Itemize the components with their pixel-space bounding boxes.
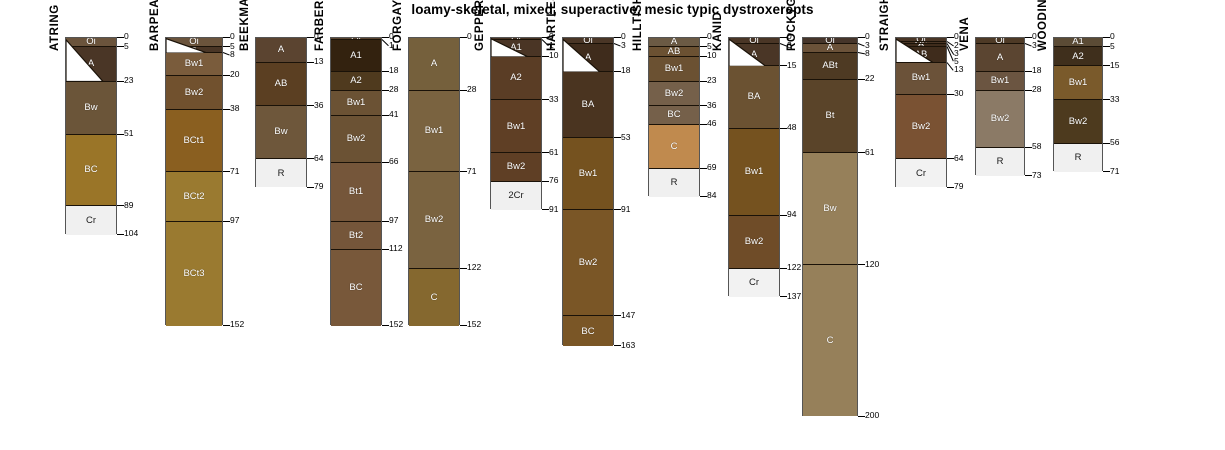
depth-tick-leader <box>117 37 124 38</box>
horizon-bw1[interactable]: Bw1 <box>491 100 541 153</box>
horizon-bw1[interactable]: Bw1 <box>563 138 613 210</box>
depth-tick-leader <box>1025 175 1032 176</box>
profile-name-label: BARPEAK <box>149 0 161 51</box>
depth-tick-label: 28 <box>1032 85 1041 94</box>
depth-tick-label: 120 <box>865 260 879 269</box>
profile-column[interactable]: OiOeAABBw1Bw2Cr <box>895 37 947 187</box>
depth-tick-label: 30 <box>954 89 963 98</box>
depth-tick-label: 61 <box>865 148 874 157</box>
horizon-label: R <box>278 169 285 179</box>
horizon-bw[interactable]: Bw <box>256 106 306 159</box>
depth-tick-leader <box>382 221 389 222</box>
depth-tick-leader <box>382 71 389 72</box>
horizon-label: Bw2 <box>745 237 763 247</box>
horizon-abt[interactable]: ABt <box>803 53 857 79</box>
depth-tick-label: 91 <box>549 205 558 214</box>
depth-tick-leader <box>117 46 124 47</box>
depth-tick-label: 71 <box>1110 167 1119 176</box>
horizon-label: Bw2 <box>579 258 597 268</box>
horizon-label: R <box>1075 153 1082 163</box>
horizon-label: Cr <box>86 216 96 226</box>
depth-tick-label: 89 <box>124 201 133 210</box>
horizon-a[interactable]: A <box>803 44 857 53</box>
depth-tick-label: 46 <box>707 119 716 128</box>
horizon-label: Bw2 <box>991 114 1009 124</box>
organic-wedge-overlay <box>491 38 541 57</box>
depth-tick-label: 64 <box>314 154 323 163</box>
horizon-bw2[interactable]: Bw2 <box>896 95 946 159</box>
profile-name-label: STRAIGHT <box>879 0 891 51</box>
depth-tick-leader <box>1103 37 1110 38</box>
horizon-label: Bw1 <box>425 126 443 136</box>
horizon-r[interactable]: R <box>1054 144 1102 172</box>
horizon-bw1[interactable]: Bw1 <box>331 91 381 116</box>
depth-tick-label: 64 <box>954 154 963 163</box>
horizon-bw2[interactable]: Bw2 <box>649 82 699 107</box>
profile-name-label: GEPPERT <box>474 0 486 51</box>
horizon-ab[interactable]: AB <box>256 63 306 107</box>
depth-tick-leader <box>382 249 389 250</box>
horizon-label: BCt3 <box>183 269 204 279</box>
depth-tick-leader <box>700 196 707 197</box>
depth-tick-label: 18 <box>1032 66 1041 75</box>
depth-tick-leader <box>947 62 954 71</box>
depth-tick-label: 79 <box>954 182 963 191</box>
depth-tick-label: 18 <box>389 66 398 75</box>
depth-tick-leader <box>780 296 787 297</box>
horizon-label: R <box>671 178 678 188</box>
depth-tick-leader <box>117 234 124 235</box>
horizon-a2[interactable]: A2 <box>1054 47 1102 66</box>
horizon-bw1[interactable]: Bw1 <box>409 91 459 172</box>
horizon-bw1[interactable]: Bw1 <box>1054 66 1102 100</box>
depth-tick-leader <box>858 37 865 38</box>
horizon-ab[interactable]: AB <box>649 47 699 56</box>
profile-name-label: ROCKYGLEN <box>786 0 798 51</box>
horizon-label: AB <box>668 47 681 56</box>
depth-tick-label: 91 <box>621 205 630 214</box>
depth-tick-label: 58 <box>1032 142 1041 151</box>
horizon-bw2[interactable]: Bw2 <box>1054 100 1102 144</box>
horizon-a[interactable]: A <box>649 38 699 47</box>
depth-tick-label: 97 <box>389 216 398 225</box>
depth-tick-label: 84 <box>707 191 716 200</box>
depth-tick-label: 38 <box>230 104 239 113</box>
depth-tick-label: 23 <box>124 76 133 85</box>
horizon-a2[interactable]: A2 <box>331 72 381 91</box>
depth-tick-leader <box>542 181 549 182</box>
profile-column[interactable]: OiABABw1Bw2BC <box>562 37 614 345</box>
depth-tick-leader <box>1025 71 1032 72</box>
horizon-label: A1 <box>1072 38 1084 47</box>
horizon-bw2[interactable]: Bw2 <box>491 153 541 181</box>
horizon-label: Bw <box>823 204 836 214</box>
depth-tick-leader <box>460 37 467 38</box>
depth-tick-label: 15 <box>1110 61 1119 70</box>
horizon-bct3[interactable]: BCt3 <box>166 222 222 326</box>
horizon-label: A <box>431 59 437 69</box>
horizon-label: R <box>997 157 1004 167</box>
horizon-label: A1 <box>350 51 362 61</box>
organic-wedge-overlay <box>563 38 613 72</box>
horizon-bw2[interactable]: Bw2 <box>563 210 613 316</box>
horizon-a2[interactable]: A2 <box>491 57 541 101</box>
depth-tick-leader <box>780 128 787 129</box>
depth-tick-leader <box>614 345 621 346</box>
depth-tick-label: 22 <box>865 74 874 83</box>
horizon-r[interactable]: R <box>649 169 699 197</box>
depth-tick-label: 122 <box>467 263 481 272</box>
depth-tick-leader <box>382 37 389 38</box>
horizon-label: Bw1 <box>579 169 597 179</box>
depth-tick-label: 71 <box>467 167 476 176</box>
depth-tick-label: 10 <box>549 51 558 60</box>
horizon-bt1[interactable]: Bt1 <box>331 163 381 222</box>
horizon-bw1[interactable]: Bw1 <box>649 57 699 82</box>
depth-tick-leader <box>223 46 230 47</box>
horizon-bw1[interactable]: Bw1 <box>896 63 946 95</box>
horizon-label: A <box>997 53 1003 63</box>
horizon-2cr[interactable]: 2Cr <box>491 182 541 210</box>
horizon-label: Bw2 <box>347 134 365 144</box>
horizon-label: Bw1 <box>991 76 1009 86</box>
horizon-label: BC <box>349 283 362 293</box>
horizon-label: BC <box>667 110 680 120</box>
depth-tick-leader <box>542 56 549 57</box>
horizon-c[interactable]: C <box>409 269 459 326</box>
horizon-bw1[interactable]: Bw1 <box>166 53 222 76</box>
horizon-bc[interactable]: BC <box>649 106 699 125</box>
profile-name-label: WOODIN <box>1037 0 1049 51</box>
profile-name-label: ATRING <box>49 4 61 51</box>
depth-tick-leader <box>858 152 865 153</box>
depth-tick-leader <box>614 315 621 316</box>
profile-column[interactable]: A1A2Bw1Bw2R <box>1053 37 1103 171</box>
depth-tick-leader <box>460 325 467 326</box>
horizon-bw2[interactable]: Bw2 <box>166 76 222 110</box>
horizon-label: Bw2 <box>425 215 443 225</box>
depth-tick-label: 61 <box>549 148 558 157</box>
organic-wedge-overlay <box>166 38 222 53</box>
horizon-label: A <box>827 44 833 53</box>
horizon-bw[interactable]: Bw <box>66 82 116 135</box>
depth-tick-leader <box>700 168 707 169</box>
depth-tick-leader <box>780 268 787 269</box>
depth-tick-label: 56 <box>1110 138 1119 147</box>
depth-tick-label: 33 <box>1110 95 1119 104</box>
depth-tick-label: 152 <box>230 320 244 329</box>
horizon-a[interactable]: A <box>409 38 459 91</box>
depth-tick-label: 137 <box>787 292 801 301</box>
horizon-cr[interactable]: Cr <box>729 269 779 297</box>
profile-name-label: HARTLESS <box>546 0 558 51</box>
horizon-bc[interactable]: BC <box>563 316 613 346</box>
horizon-label: BCt1 <box>183 136 204 146</box>
depth-tick-label: 66 <box>389 157 398 166</box>
depth-tick-leader <box>382 162 389 163</box>
profile-column[interactable]: AABBw1Bw2BCCR <box>648 37 700 196</box>
horizon-bw2[interactable]: Bw2 <box>976 91 1024 148</box>
horizon-label: BC <box>581 327 594 337</box>
horizon-ba[interactable]: BA <box>729 66 779 128</box>
profile-name-label: VENA <box>959 17 971 51</box>
depth-tick-leader <box>1103 46 1110 47</box>
depth-tick-label: 94 <box>787 210 796 219</box>
depth-tick-label: 5 <box>1110 42 1115 51</box>
depth-tick-leader <box>700 56 707 57</box>
depth-tick-label: 13 <box>314 57 323 66</box>
depth-tick-leader <box>223 52 230 55</box>
depth-tick-leader <box>382 39 389 46</box>
depth-tick-label: 97 <box>230 216 239 225</box>
depth-tick-leader <box>858 79 865 80</box>
horizon-c[interactable]: C <box>803 265 857 416</box>
depth-tick-label: 0 <box>124 32 129 41</box>
horizon-label: Cr <box>749 278 759 288</box>
horizon-label: ABt <box>822 61 837 71</box>
depth-tick-leader <box>780 215 787 216</box>
depth-tick-leader <box>858 416 865 417</box>
depth-tick-leader <box>307 37 314 38</box>
horizon-a1[interactable]: A1 <box>331 40 381 72</box>
depth-tick-leader <box>223 325 230 326</box>
depth-tick-label: 79 <box>314 182 323 191</box>
horizon-label: C <box>827 336 834 346</box>
depth-tick-label: 69 <box>707 163 716 172</box>
horizon-label: BA <box>748 92 761 102</box>
depth-tick-leader <box>1025 43 1032 46</box>
horizon-a1[interactable]: A1 <box>1054 38 1102 47</box>
horizon-label: Bw <box>274 127 287 137</box>
horizon-bct1[interactable]: BCt1 <box>166 110 222 172</box>
horizon-label: Bw1 <box>347 98 365 108</box>
horizon-bw2[interactable]: Bw2 <box>409 172 459 269</box>
depth-tick-label: 28 <box>467 85 476 94</box>
depth-tick-leader <box>947 158 954 159</box>
depth-tick-label: 147 <box>621 311 635 320</box>
profile-column[interactable]: ABw1Bw2C <box>408 37 460 325</box>
depth-tick-label: 104 <box>124 229 138 238</box>
horizon-label: Bw1 <box>745 167 763 177</box>
depth-tick-leader <box>223 37 230 38</box>
depth-tick-leader <box>223 221 230 222</box>
profile-name-label: KANID <box>712 12 724 51</box>
profile-name-label: HILLTISH <box>632 0 644 51</box>
horizon-ba[interactable]: BA <box>563 72 613 138</box>
depth-tick-leader <box>117 81 124 82</box>
depth-tick-leader <box>1103 65 1110 66</box>
depth-tick-leader <box>460 268 467 269</box>
horizon-label: Bw2 <box>507 162 525 172</box>
depth-tick-label: 51 <box>124 129 133 138</box>
profile-column[interactable]: OiABABw1Bw2Cr <box>728 37 780 296</box>
horizon-label: BC <box>84 165 97 175</box>
horizon-label: Bt <box>826 111 835 121</box>
horizon-bw2[interactable]: Bw2 <box>729 216 779 269</box>
depth-tick-label: 200 <box>865 411 879 420</box>
depth-tick-leader <box>1025 147 1032 148</box>
horizon-c[interactable]: C <box>649 125 699 169</box>
depth-tick-label: 73 <box>1032 171 1041 180</box>
depth-tick-label: 23 <box>707 76 716 85</box>
depth-tick-label: 8 <box>230 50 235 59</box>
depth-tick-leader <box>307 158 314 159</box>
depth-tick-leader <box>382 115 389 116</box>
profile-column[interactable]: OiAABtBtBwC <box>802 37 858 416</box>
depth-tick-label: 152 <box>467 320 481 329</box>
horizon-label: Bw1 <box>912 73 930 83</box>
depth-tick-leader <box>117 205 124 206</box>
depth-tick-leader <box>614 209 621 210</box>
horizon-label: A <box>278 45 284 55</box>
depth-tick-label: 163 <box>621 341 635 350</box>
organic-wedge-overlay <box>729 38 779 66</box>
profile-column[interactable]: AABBwR <box>255 37 307 187</box>
horizon-label: BCt2 <box>183 192 204 202</box>
depth-tick-label: 20 <box>230 70 239 79</box>
horizon-label: Bw1 <box>185 59 203 69</box>
depth-tick-leader <box>223 109 230 110</box>
depth-tick-label: 152 <box>389 320 403 329</box>
depth-tick-label: 71 <box>230 167 239 176</box>
depth-tick-leader <box>1103 99 1110 100</box>
depth-tick-leader <box>1103 171 1110 172</box>
profile-column[interactable]: OiABw1Bw2BCt1BCt2BCt3 <box>165 37 223 325</box>
depth-tick-leader <box>858 43 865 46</box>
horizon-label: Bw2 <box>1069 117 1087 127</box>
depth-tick-leader <box>1025 90 1032 91</box>
profile-name-label: FARBER <box>314 0 326 51</box>
horizon-bc[interactable]: BC <box>66 135 116 207</box>
depth-tick-label: 3 <box>621 41 626 50</box>
horizon-bt[interactable]: Bt <box>803 80 857 154</box>
horizon-bw2[interactable]: Bw2 <box>331 116 381 163</box>
depth-tick-label: 10 <box>707 51 716 60</box>
depth-tick-leader <box>542 152 549 153</box>
depth-tick-label: 41 <box>389 110 398 119</box>
depth-tick-label: 0 <box>230 32 235 41</box>
depth-tick-leader <box>700 81 707 82</box>
depth-tick-leader <box>858 52 865 54</box>
horizon-label: Bw <box>84 103 97 113</box>
depth-tick-leader <box>1103 143 1110 144</box>
depth-tick-leader <box>700 105 707 106</box>
depth-tick-leader <box>614 71 621 72</box>
horizon-label: BA <box>582 100 595 110</box>
depth-tick-label: 0 <box>467 32 472 41</box>
depth-tick-leader <box>542 209 549 210</box>
horizon-label: C <box>431 293 438 303</box>
profile-column[interactable]: OiABw1Bw2R <box>975 37 1025 175</box>
horizon-label: Bt2 <box>349 231 363 241</box>
horizon-bt2[interactable]: Bt2 <box>331 222 381 250</box>
depth-tick-label: 18 <box>621 66 630 75</box>
depth-tick-leader <box>542 99 549 100</box>
depth-tick-label: 28 <box>389 85 398 94</box>
depth-tick-label: 53 <box>621 133 630 142</box>
horizon-bw1[interactable]: Bw1 <box>729 129 779 216</box>
horizon-label: Bw1 <box>1069 78 1087 88</box>
depth-tick-label: 0 <box>1110 32 1115 41</box>
depth-tick-leader <box>858 264 865 265</box>
horizon-a[interactable]: A <box>976 44 1024 72</box>
depth-tick-label: 5 <box>124 42 129 51</box>
horizon-r[interactable]: R <box>976 148 1024 176</box>
horizon-bc[interactable]: BC <box>331 250 381 326</box>
depth-tick-label: 48 <box>787 123 796 132</box>
depth-tick-label: 36 <box>314 101 323 110</box>
horizon-label: A2 <box>1072 52 1084 62</box>
depth-tick-leader <box>382 325 389 326</box>
horizon-label: Bw2 <box>185 88 203 98</box>
depth-tick-leader <box>382 90 389 91</box>
horizon-label: Bw1 <box>665 64 683 74</box>
depth-tick-label: 112 <box>389 244 403 253</box>
depth-tick-leader <box>307 62 314 63</box>
depth-tick-label: 8 <box>865 49 870 58</box>
depth-tick-leader <box>700 37 707 38</box>
depth-tick-label: 15 <box>787 61 796 70</box>
profile-column[interactable]: OiABwBCCr <box>65 37 117 234</box>
depth-tick-leader <box>614 37 621 38</box>
depth-tick-leader <box>614 137 621 138</box>
horizon-label: Bt1 <box>349 187 363 197</box>
depth-tick-leader <box>947 37 954 38</box>
depth-tick-leader <box>223 171 230 172</box>
organic-wedge-overlay <box>896 38 946 63</box>
organic-wedge-overlay <box>66 38 116 82</box>
depth-tick-leader <box>700 46 707 47</box>
horizon-r[interactable]: R <box>256 159 306 187</box>
depth-tick-leader <box>614 43 621 46</box>
depth-tick-leader <box>460 90 467 91</box>
depth-tick-leader <box>780 65 787 66</box>
horizon-label: A2 <box>350 76 362 86</box>
horizon-label: Cr <box>916 169 926 179</box>
depth-tick-leader <box>223 75 230 76</box>
depth-tick-label: 36 <box>707 101 716 110</box>
horizon-cr[interactable]: Cr <box>66 206 116 234</box>
horizon-label: A <box>671 38 677 47</box>
horizon-label: Bw2 <box>665 89 683 99</box>
depth-tick-leader <box>307 187 314 188</box>
depth-tick-label: 76 <box>549 176 558 185</box>
depth-tick-leader <box>947 94 954 95</box>
profile-column[interactable]: OiA1A2Bw1Bw2Bt1Bt2BC <box>330 37 382 325</box>
depth-tick-leader <box>117 134 124 135</box>
depth-tick-label: 13 <box>954 65 963 74</box>
horizon-label: AB <box>275 79 288 89</box>
horizon-bct2[interactable]: BCt2 <box>166 172 222 221</box>
depth-tick-leader <box>460 171 467 172</box>
horizon-label: A2 <box>510 73 522 83</box>
depth-tick-leader <box>1025 37 1032 38</box>
horizon-a[interactable]: A <box>256 38 306 63</box>
profile-column[interactable]: OiA1A2Bw1Bw22Cr <box>490 37 542 209</box>
horizon-bw[interactable]: Bw <box>803 153 857 265</box>
horizon-label: Bw2 <box>912 122 930 132</box>
depth-tick-leader <box>307 105 314 106</box>
depth-tick-leader <box>700 124 707 125</box>
depth-tick-label: 33 <box>549 95 558 104</box>
profile-name-label: BEEKMAN <box>239 0 251 51</box>
horizon-cr[interactable]: Cr <box>896 159 946 187</box>
horizon-label: 2Cr <box>508 191 523 201</box>
depth-tick-leader <box>947 187 954 188</box>
horizon-bw1[interactable]: Bw1 <box>976 72 1024 91</box>
horizon-label: C <box>671 142 678 152</box>
horizon-label: Bw1 <box>507 122 525 132</box>
